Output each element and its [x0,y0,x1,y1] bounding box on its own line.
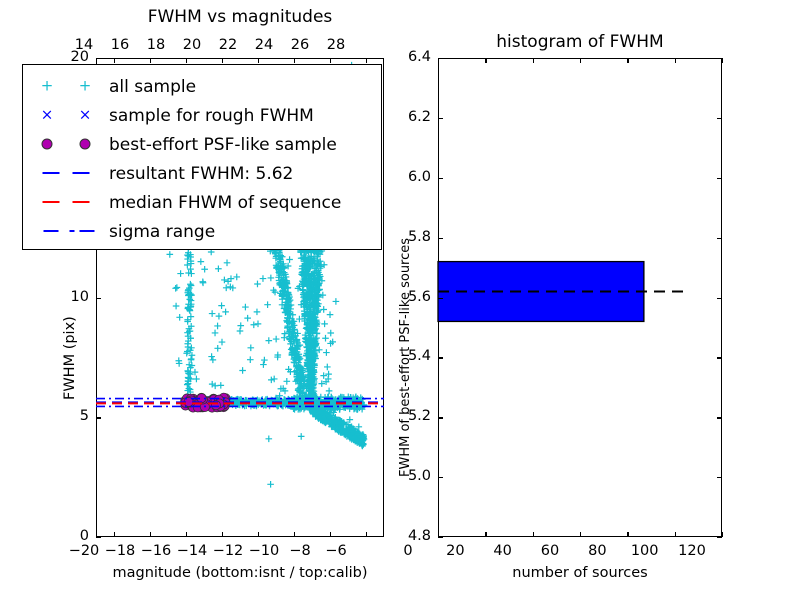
dashdot-line [70,230,75,232]
axis-tick [438,118,443,119]
legend-label: sample for rough FWHM [109,106,314,126]
right-ytick: 4.8 [408,528,431,544]
axis-tick [533,58,534,63]
axis-tick [717,58,722,59]
axis-tick [438,58,443,59]
legend-item: sigma range [23,217,383,246]
circle-marker [80,139,91,150]
right-ytick: 6.2 [408,109,431,125]
axis-tick [580,532,581,537]
right-ytick: 5.8 [408,229,431,245]
dashed-line [43,172,60,174]
axis-tick [717,357,722,358]
axis-tick [438,537,443,538]
axis-tick [675,532,676,537]
dashed-line [73,172,90,174]
plus-marker: ++ [23,72,109,101]
cross-marker: × [41,108,54,123]
axis-tick [580,58,581,63]
legend-item: ××sample for rough FWHM [23,101,383,130]
axis-tick [717,417,722,418]
right-ytick: 6.0 [408,169,431,185]
dashed-line [23,188,109,217]
dashdot-line [80,230,95,232]
legend-item: resultant FWHM: 5.62 [23,159,383,188]
axis-tick [717,178,722,179]
plus-marker: + [41,79,54,94]
axis-tick [438,238,443,239]
axis-tick [717,537,722,538]
legend-item: median FHWM of sequence [23,188,383,217]
dashed-line [23,159,109,188]
dashed-line [73,201,90,203]
axis-tick [485,58,486,63]
right-ytick: 5.0 [408,468,431,484]
legend-label: best-effort PSF-like sample [109,135,337,155]
axis-tick [438,178,443,179]
circle-marker [23,130,109,159]
right-ytick: 5.6 [408,289,431,305]
legend-item: ++all sample [23,72,383,101]
right-ytick: 5.4 [408,348,431,364]
legend-label: median FHWM of sequence [109,193,341,213]
circle-marker [42,139,53,150]
axis-tick [438,417,443,418]
legend-label: all sample [109,77,196,97]
axis-tick [717,477,722,478]
right-xtick: 120 [662,543,722,559]
dashdot-line [23,217,109,246]
legend-box: ++all sample××sample for rough FWHMbest-… [22,64,382,250]
cross-marker: × [79,108,92,123]
dashed-line [43,201,60,203]
axis-tick [627,532,628,537]
legend-label: resultant FWHM: 5.62 [109,164,293,184]
axis-tick [438,298,443,299]
axis-tick [627,58,628,63]
legend-item: best-effort PSF-like sample [23,130,383,159]
axis-tick [717,118,722,119]
axis-tick [722,58,723,63]
cross-marker: ×× [23,101,109,130]
right-ytick: 5.2 [408,408,431,424]
axis-tick [438,477,443,478]
axis-tick [438,357,443,358]
dashdot-line [44,230,59,232]
axis-tick [717,238,722,239]
axis-tick [485,532,486,537]
axis-tick [533,532,534,537]
axis-tick [717,298,722,299]
right-ytick: 6.4 [408,49,431,65]
plus-marker: + [79,79,92,94]
axis-tick [722,532,723,537]
legend-label: sigma range [109,222,215,242]
axis-tick [675,58,676,63]
